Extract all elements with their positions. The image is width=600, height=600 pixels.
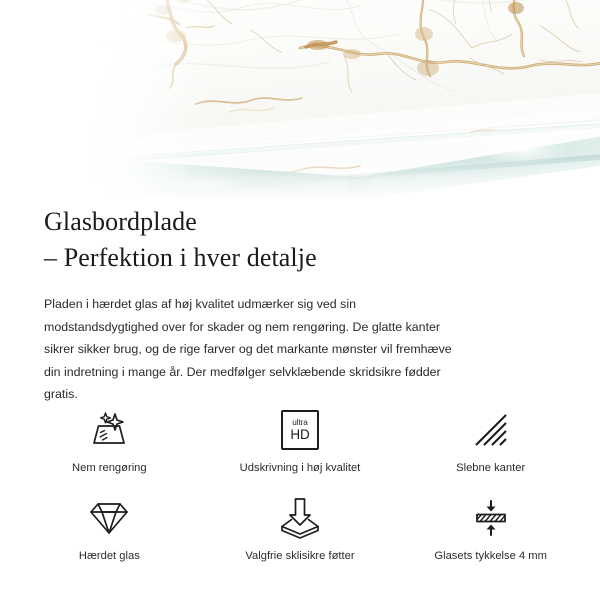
hatched-corner-icon — [473, 408, 509, 452]
ultra-hd-bottom-text: HD — [290, 428, 309, 442]
edge-specular-highlight — [476, 136, 568, 164]
page-title: Glasbordplade – Perfektion i hver detalj… — [0, 200, 600, 276]
feature-label: Udskrivning i høj kvalitet — [240, 461, 361, 475]
feature-anti-slip-feet: Valgfrie sklisikre føtter — [205, 488, 396, 576]
feature-ultra-hd-print: ultra HD Udskrivning i høj kvalitet — [205, 400, 396, 488]
feature-label: Slebne kanter — [456, 461, 525, 475]
sparkle-surface-icon — [86, 408, 132, 452]
arrow-into-pad-icon — [279, 496, 321, 540]
ultra-hd-icon: ultra HD — [281, 408, 319, 452]
page-title-line-1: Glasbordplade — [44, 207, 197, 236]
feature-polished-edges: Slebne kanter — [395, 400, 586, 488]
ultra-hd-top-text: ultra — [292, 419, 307, 427]
feature-glass-thickness: Glasets tykkelse 4 mm — [395, 488, 586, 576]
product-description: Pladen i hærdet glas af høj kvalitet udm… — [0, 276, 512, 406]
feature-label: Glasets tykkelse 4 mm — [434, 549, 547, 563]
page-title-line-2: – Perfektion i hver detalje — [44, 240, 556, 276]
feature-easy-cleaning: Nem rengøring — [14, 400, 205, 488]
edge-specular-highlight-2 — [172, 176, 240, 196]
thickness-arrows-icon — [471, 496, 511, 540]
feature-label: Nem rengøring — [72, 461, 147, 475]
glass-tabletop-illustration — [0, 0, 600, 200]
diamond-icon — [88, 496, 130, 540]
feature-tempered-glass: Hærdet glas — [14, 488, 205, 576]
feature-grid: Nem rengøring ultra HD Udskrivning i høj… — [0, 400, 600, 576]
feature-label: Hærdet glas — [79, 549, 140, 563]
hero-product-image — [0, 0, 600, 200]
product-info-page: Glasbordplade – Perfektion i hver detalj… — [0, 0, 600, 600]
content-block: Glasbordplade – Perfektion i hver detalj… — [0, 200, 600, 406]
feature-label: Valgfrie sklisikre føtter — [245, 549, 354, 563]
